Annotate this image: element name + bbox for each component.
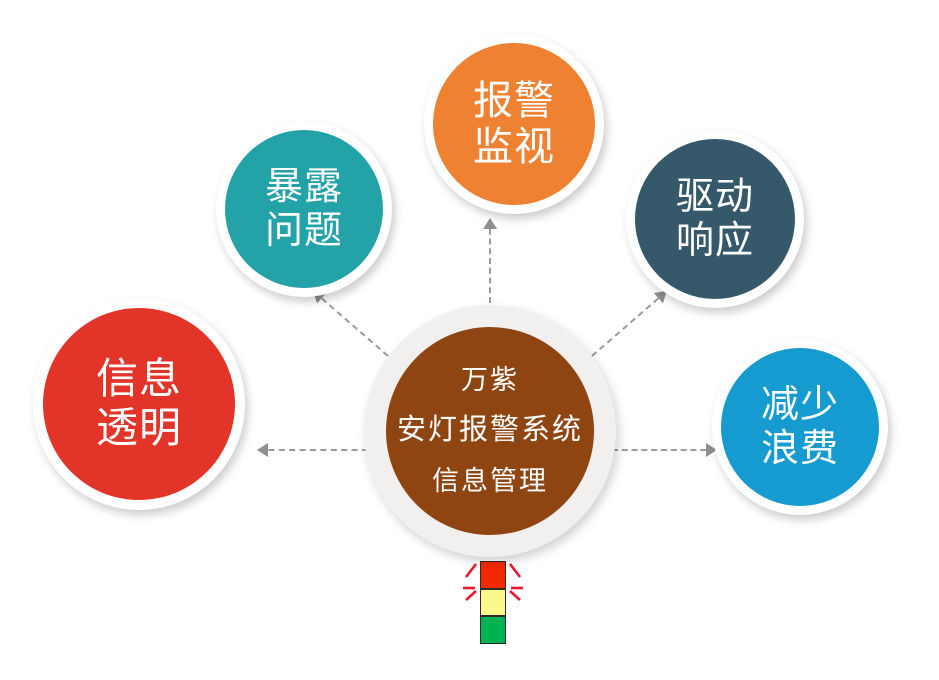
node-information-transparency-disc: 信息 透明 (43, 308, 235, 500)
diagram-canvas: 万紫 安灯报警系统 信息管理 报警 监视 暴露 问题 驱动 响应 信息 透明 (0, 0, 939, 680)
connector-right-line (612, 449, 716, 451)
andon-lamp-red (480, 561, 506, 589)
node-information-transparency-line1: 信息 (96, 355, 182, 404)
connector-up-left (313, 291, 388, 357)
node-drive-response-line1: 驱动 (676, 175, 754, 219)
connector-up-line (489, 219, 491, 303)
connector-left-line (258, 449, 368, 451)
connector-right (612, 449, 716, 451)
connector-up-right (591, 291, 666, 357)
node-reduce-waste-line1: 减少 (761, 383, 839, 427)
connector-up (489, 219, 491, 303)
node-expose-problems[interactable]: 暴露 问题 (216, 121, 392, 297)
center-node[interactable]: 万紫 安灯报警系统 信息管理 (364, 305, 616, 557)
node-alarm-monitoring-line1: 报警 (473, 78, 555, 124)
andon-light-tower (463, 557, 523, 657)
connector-up-right-line (591, 291, 666, 357)
andon-lamp-green (480, 616, 506, 644)
center-node-line3: 信息管理 (432, 466, 548, 497)
node-reduce-waste-line2: 浪费 (761, 427, 839, 471)
node-expose-problems-line1: 暴露 (265, 165, 343, 209)
node-information-transparency[interactable]: 信息 透明 (33, 298, 245, 510)
connector-up-left-line (313, 291, 388, 357)
center-node-line1: 万紫 (461, 365, 519, 396)
node-alarm-monitoring-disc: 报警 监视 (433, 43, 595, 205)
node-reduce-waste-disc: 减少 浪费 (721, 348, 879, 506)
center-node-line2: 安灯报警系统 (397, 414, 583, 448)
andon-lamp-yellow (480, 589, 506, 617)
node-reduce-waste[interactable]: 减少 浪费 (712, 339, 888, 515)
connector-up-arrowhead (483, 218, 497, 229)
node-information-transparency-line2: 透明 (96, 404, 182, 453)
node-drive-response-disc: 驱动 响应 (635, 139, 795, 299)
node-alarm-monitoring[interactable]: 报警 监视 (424, 34, 604, 214)
node-drive-response-line2: 响应 (676, 219, 754, 263)
connector-left-arrowhead (257, 443, 268, 457)
node-drive-response[interactable]: 驱动 响应 (626, 130, 804, 308)
node-alarm-monitoring-line2: 监视 (473, 124, 555, 170)
node-expose-problems-line2: 问题 (265, 209, 343, 253)
node-expose-problems-disc: 暴露 问题 (225, 130, 383, 288)
center-node-disc: 万紫 安灯报警系统 信息管理 (386, 327, 594, 535)
andon-lamp-stack (480, 561, 506, 644)
connector-left (258, 449, 368, 451)
